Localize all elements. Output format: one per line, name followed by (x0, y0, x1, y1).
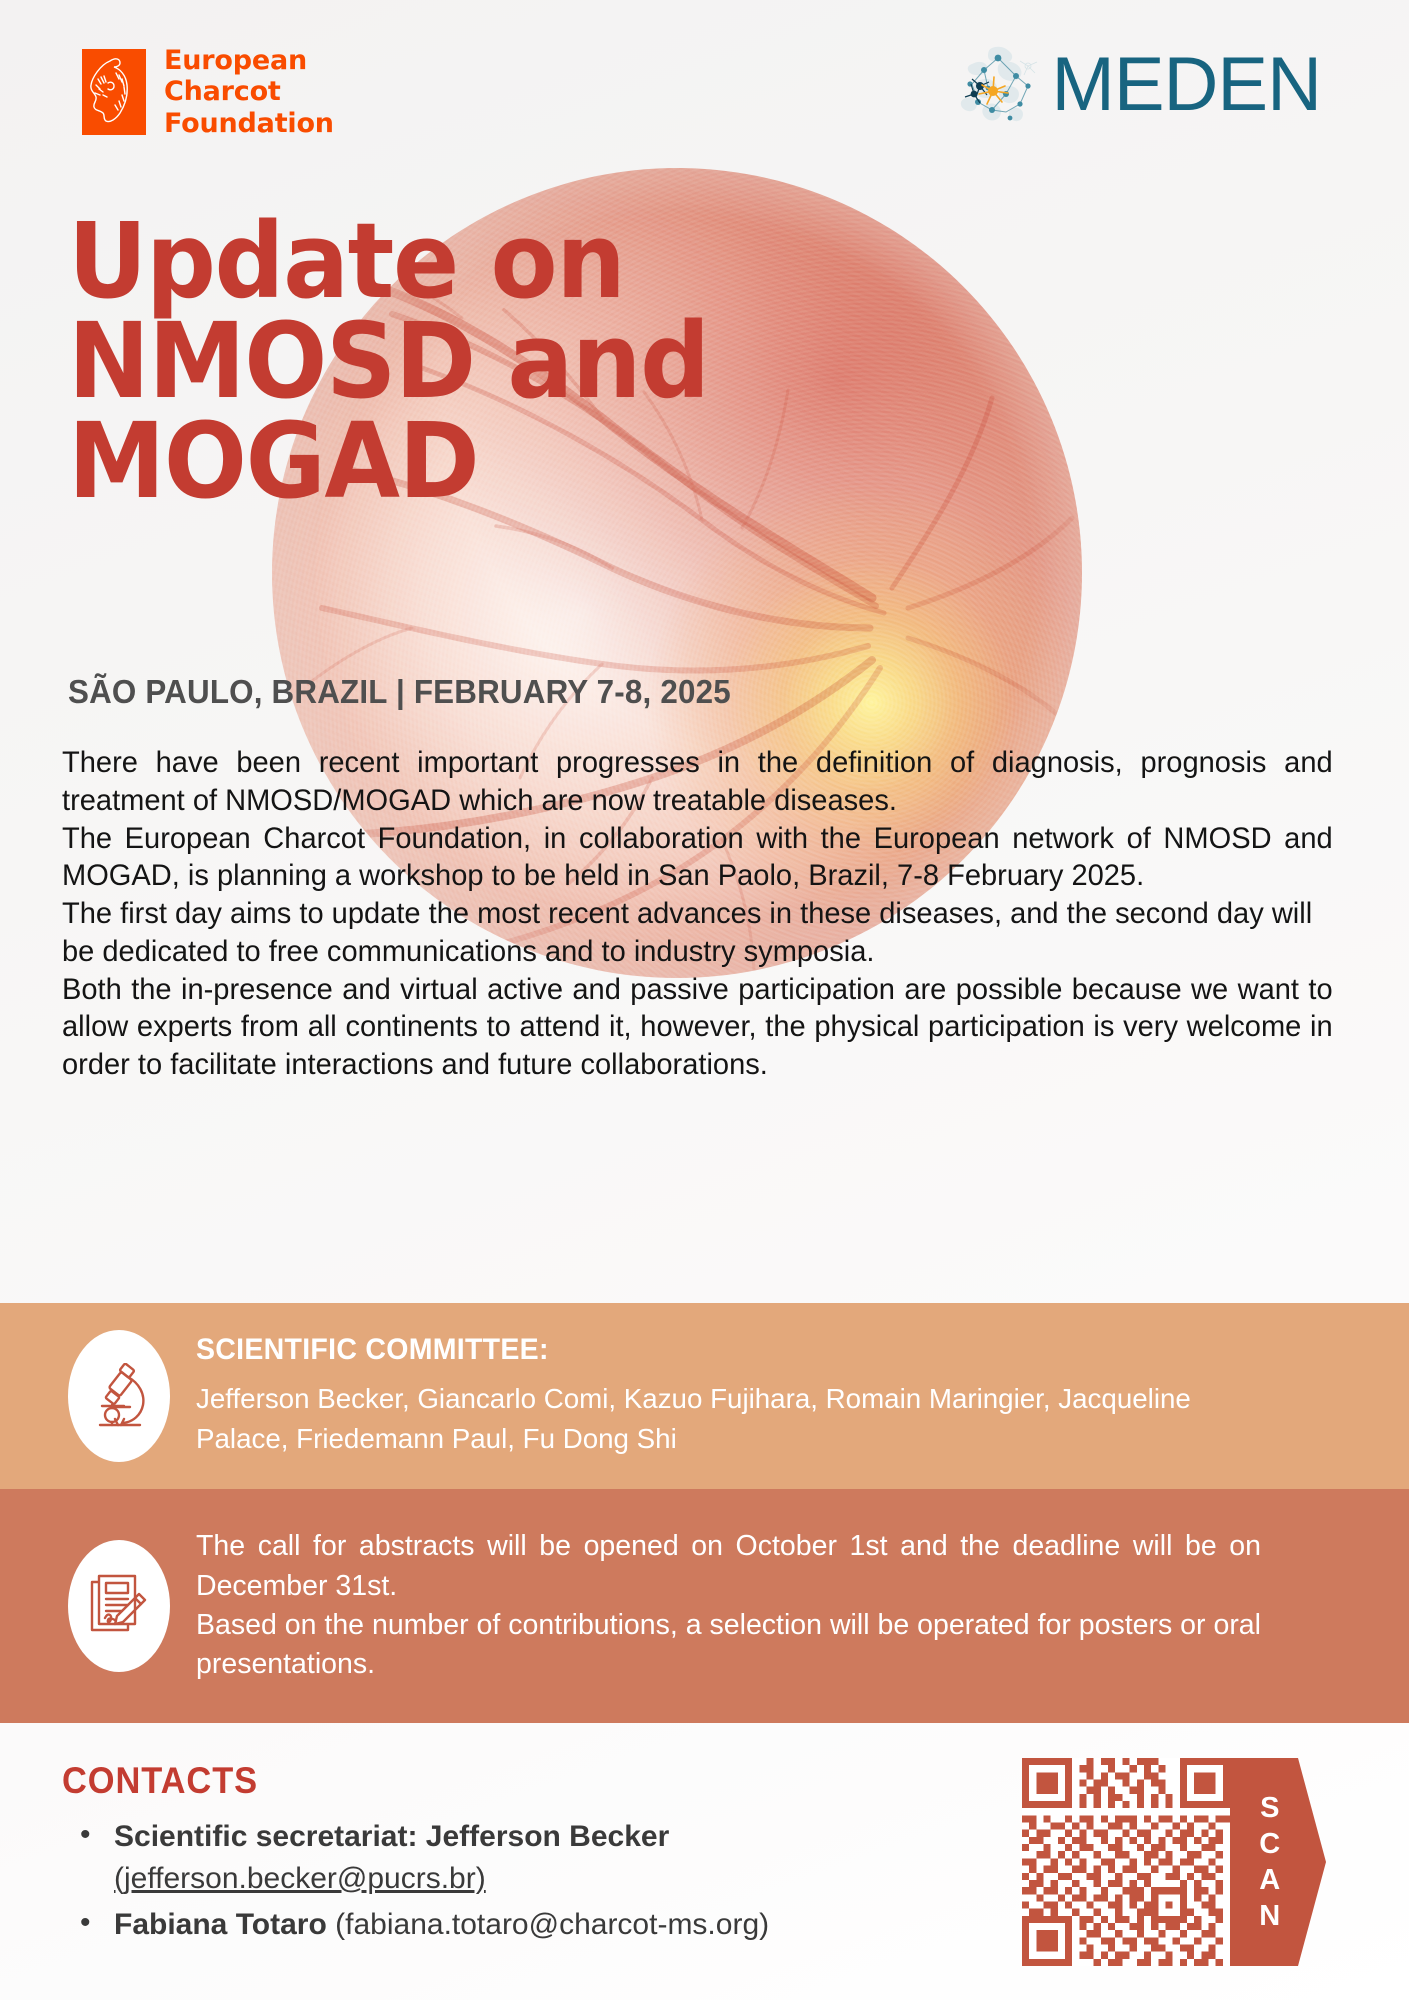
contact-name: Scientific secretariat: Jefferson Becker (114, 1820, 669, 1853)
committee-text-block: SCIENTIFIC COMMITTEE: Jefferson Becker, … (196, 1333, 1256, 1459)
scan-label: S C A N (1230, 1758, 1326, 1966)
list-item: Fabiana Totaro (fabiana.totaro@charcot-m… (76, 1904, 962, 1946)
contact-email-link[interactable]: (jefferson.becker@pucrs.br) (114, 1862, 486, 1895)
document-with-pen-icon (89, 1572, 149, 1640)
meden-logo: MEDEN (958, 42, 1321, 128)
call-for-abstracts-band: The call for abstracts will be opened on… (0, 1489, 1409, 1723)
body-paragraph: The first day aims to update the most re… (62, 895, 1333, 971)
intro-body-copy: There have been recent important progres… (62, 744, 1333, 1084)
europe-neuron-network-icon (958, 42, 1050, 128)
qr-scan-block[interactable]: S C A N (1022, 1758, 1326, 1966)
charcot-head-glyph-icon (82, 49, 146, 135)
list-item: Scientific secretariat: Jefferson Becker… (76, 1816, 962, 1900)
poster-canvas: European Charcot Foundation (0, 0, 1409, 2000)
european-charcot-foundation-logo: European Charcot Foundation (82, 45, 334, 139)
contact-name: Fabiana Totaro (114, 1908, 327, 1941)
charcot-head-mark-icon (82, 49, 146, 135)
abstract-document-icon-badge (68, 1540, 170, 1672)
ecf-logo-wordmark: European Charcot Foundation (164, 45, 334, 139)
microscope-icon (88, 1363, 150, 1429)
contacts-section: CONTACTS Scientific secretariat: Jeffers… (62, 1760, 962, 1950)
abstracts-paragraph: The call for abstracts will be opened on… (196, 1527, 1261, 1606)
microscope-icon-badge (68, 1330, 170, 1462)
scientific-committee-band: SCIENTIFIC COMMITTEE: Jefferson Becker, … (0, 1303, 1409, 1489)
body-paragraph: There have been recent important progres… (62, 744, 1333, 820)
scan-tag[interactable]: S C A N (1230, 1758, 1326, 1966)
meden-wordmark: MEDEN (1052, 50, 1321, 120)
contacts-list: Scientific secretariat: Jefferson Becker… (62, 1816, 962, 1946)
contact-email[interactable]: (fabiana.totaro@charcot-ms.org) (335, 1908, 769, 1941)
abstracts-paragraph: Based on the number of contributions, a … (196, 1606, 1261, 1685)
body-paragraph: The European Charcot Foundation, in coll… (62, 820, 1333, 896)
committee-member-list: Jefferson Becker, Giancarlo Comi, Kazuo … (196, 1379, 1245, 1459)
event-location-date: SÃO PAULO, BRAZIL | FEBRUARY 7-8, 2025 (68, 673, 731, 711)
scan-letter: C (1259, 1828, 1280, 1861)
abstracts-text-block: The call for abstracts will be opened on… (196, 1527, 1261, 1684)
committee-heading: SCIENTIFIC COMMITTEE: (196, 1333, 1203, 1367)
contacts-heading: CONTACTS (62, 1760, 899, 1802)
body-paragraph: Both the in-presence and virtual active … (62, 971, 1333, 1084)
scan-letter: S (1260, 1792, 1280, 1825)
scan-letter: N (1259, 1900, 1280, 1933)
poster-header: European Charcot Foundation (0, 0, 1409, 170)
qr-code-icon[interactable] (1022, 1758, 1230, 1966)
scan-letter: A (1259, 1864, 1280, 1897)
page-title: Update on NMOSD and MOGAD (68, 212, 914, 511)
